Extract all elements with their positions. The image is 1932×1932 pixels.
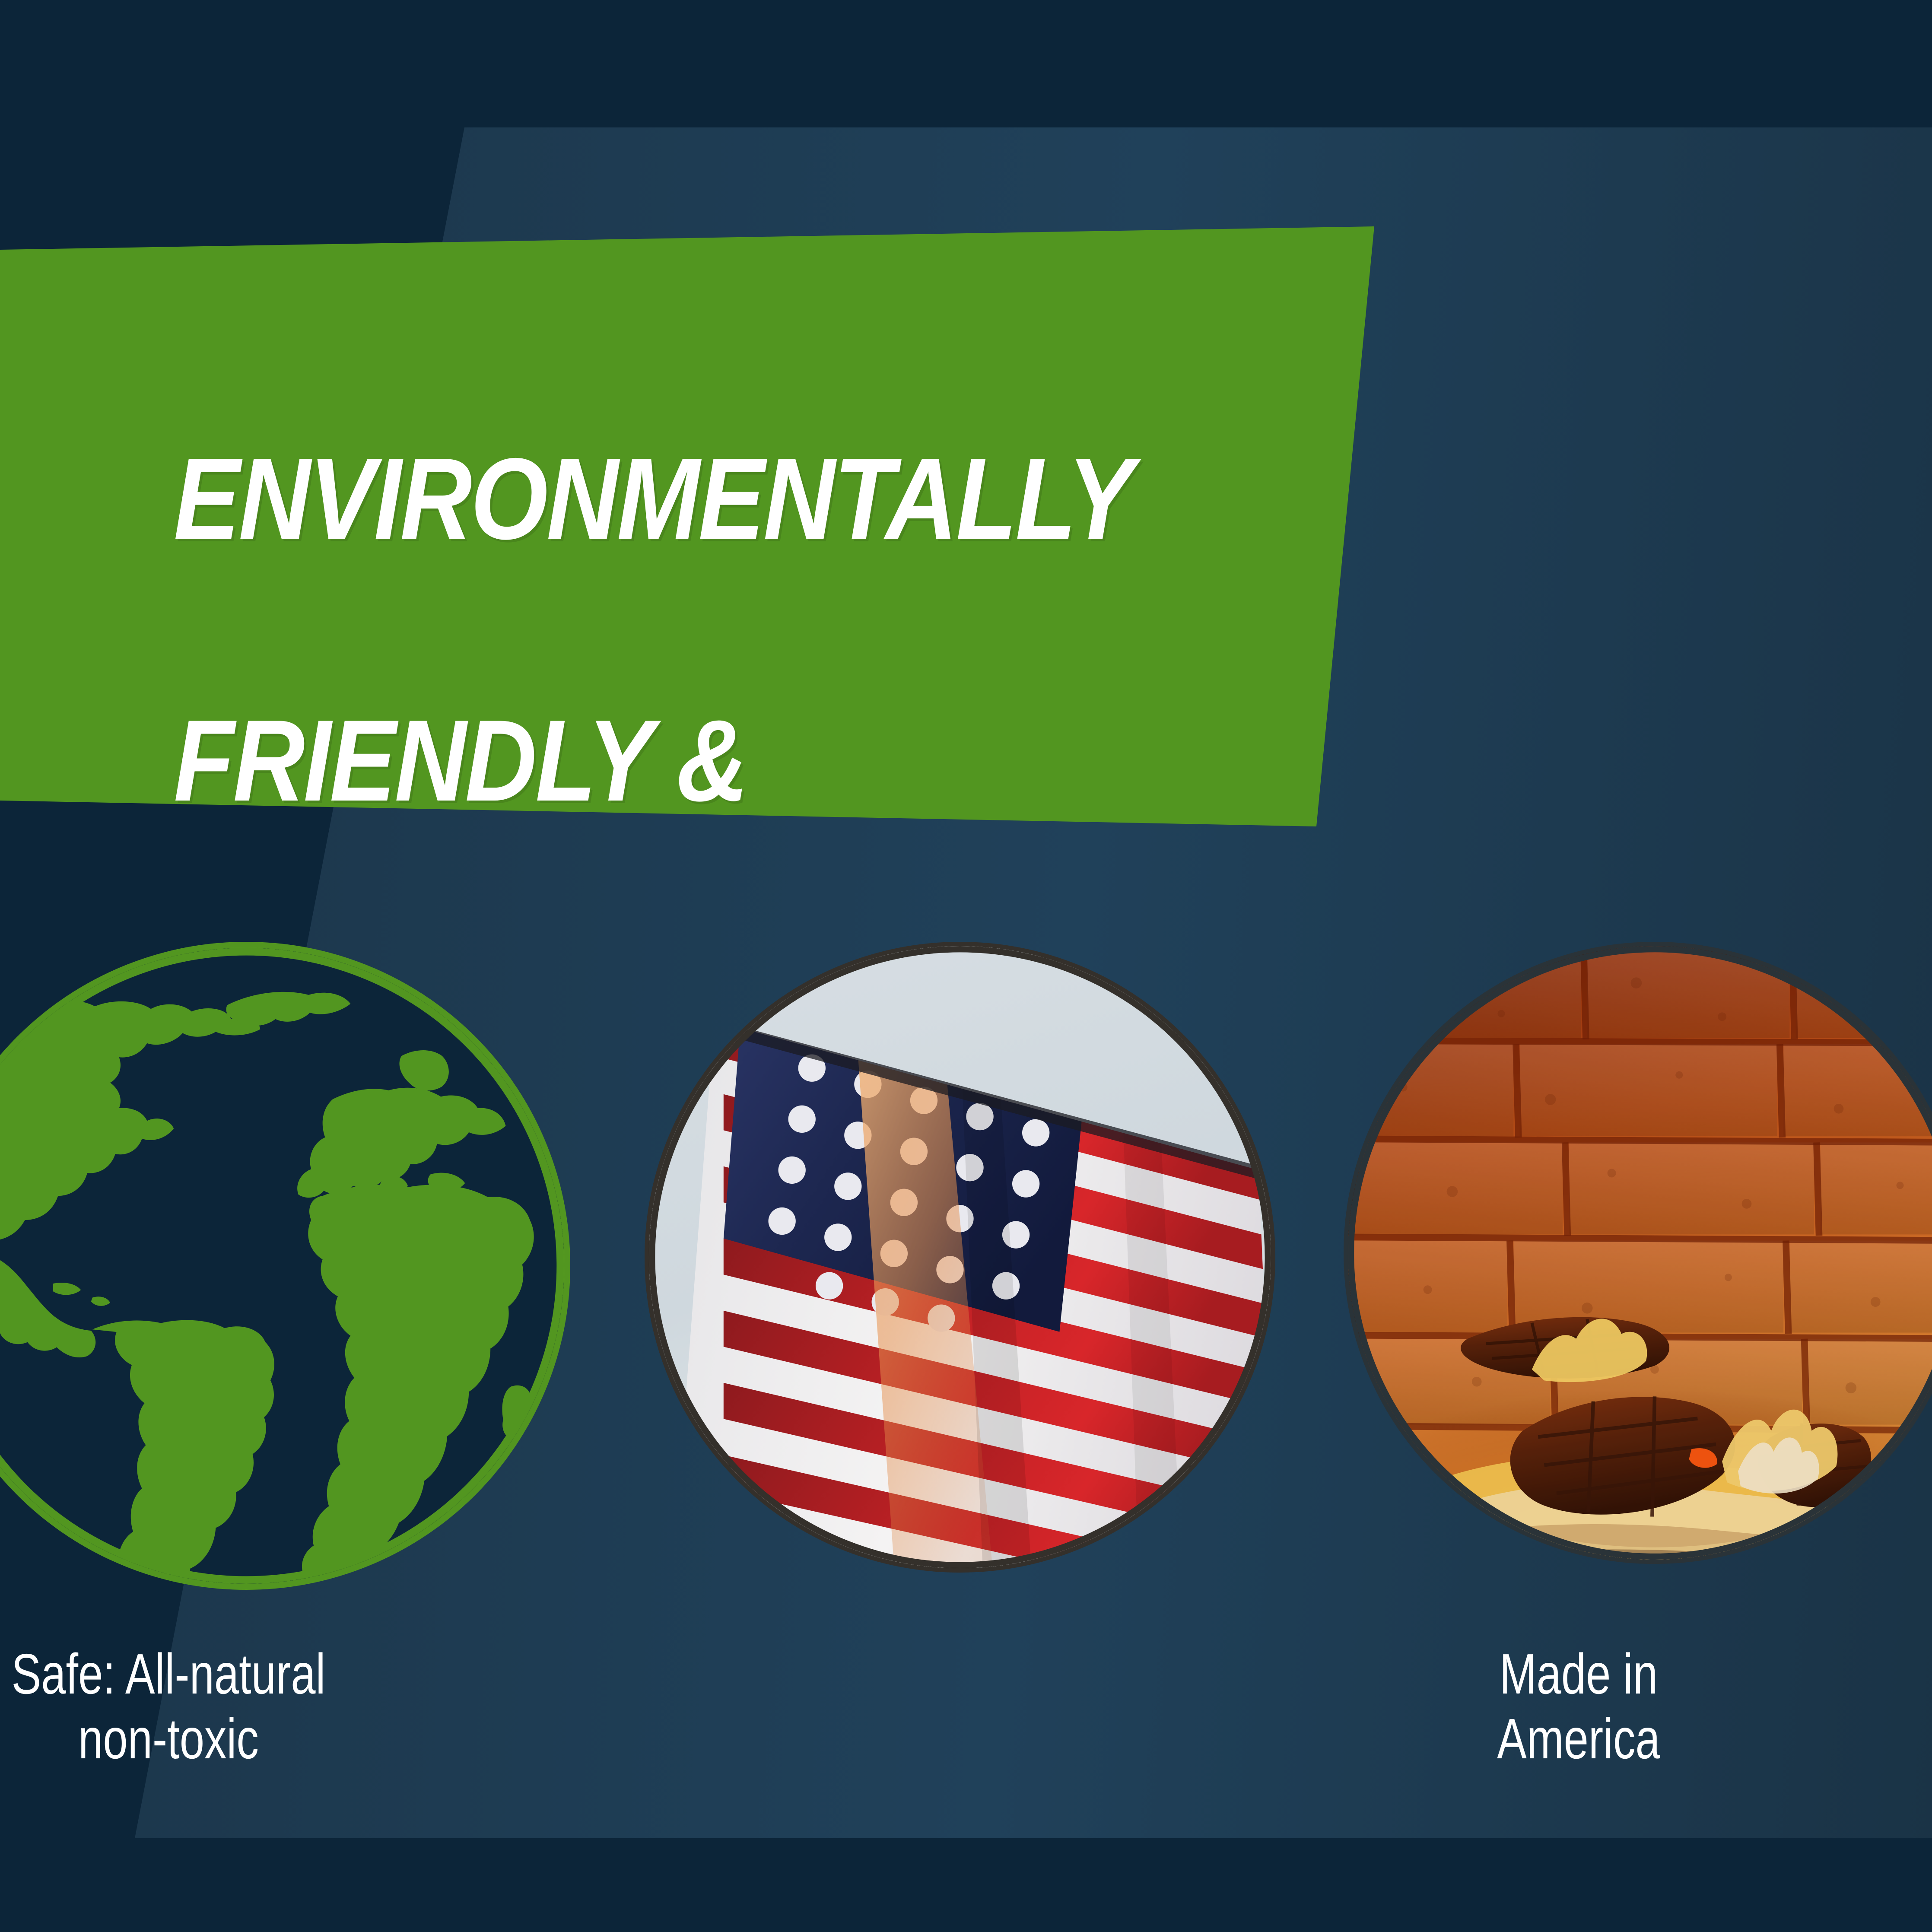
flag-media <box>627 942 1271 1607</box>
fireplace-media <box>1335 942 1932 1607</box>
feature-tile-building-codes: Meets or exceeds residential building co… <box>1335 942 1932 1806</box>
feature-caption-safe: Safe: All-natural non-toxic <box>0 1642 421 1771</box>
american-flag-photo <box>645 942 1275 1573</box>
feature-tile-made-in-america: Made in America <box>627 942 1271 1806</box>
globe-media <box>0 942 566 1607</box>
fireplace-photo <box>1344 942 1932 1564</box>
headline-line-2: FRIENDLY & <box>174 695 1177 826</box>
feature-tiles: Safe: All-natural non-toxic <box>0 942 1932 1806</box>
feature-tile-safe: Safe: All-natural non-toxic <box>0 942 566 1806</box>
promo-poster: ENVIRONMENTALLY FRIENDLY & MADE IN THE U… <box>0 0 1932 1932</box>
globe-icon <box>0 942 570 1590</box>
headline-line-1: ENVIRONMENTALLY <box>174 433 1177 564</box>
